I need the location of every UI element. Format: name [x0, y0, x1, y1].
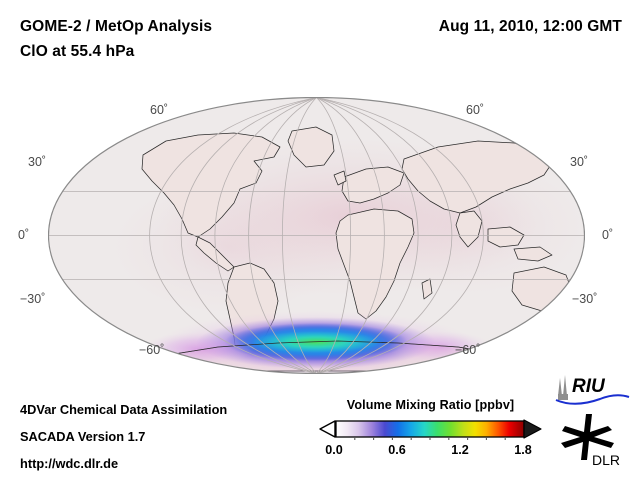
footer-line-1: 4DVar Chemical Data Assimilation — [20, 402, 227, 417]
lat-label-left-m60: −60˚ — [139, 343, 164, 357]
lat-label-right-0: 0˚ — [602, 228, 613, 242]
colorbar-tick-3: 1.8 — [514, 443, 532, 457]
colorbar-tick-2: 1.2 — [451, 443, 469, 457]
colorbar-tick-labels: 0.0 0.6 1.2 1.8 — [318, 443, 543, 461]
colorbar-graphic — [318, 418, 543, 440]
footer-line-3[interactable]: http://wdc.dlr.de — [20, 456, 118, 471]
lat-label-left-0: 0˚ — [18, 228, 29, 242]
dlr-logo: DLR — [556, 412, 632, 468]
page-title: GOME-2 / MetOp Analysis — [20, 18, 212, 36]
page-subtitle: ClO at 55.4 hPa — [20, 43, 134, 61]
riu-tower-icon — [558, 375, 568, 400]
lat-label-left-60: 60˚ — [150, 103, 168, 117]
colorbar-gradient — [336, 421, 524, 437]
colorbar-tick-0: 0.0 — [325, 443, 343, 457]
riu-logo: RIU — [552, 374, 632, 408]
colorbar-title: Volume Mixing Ratio [ppbv] — [318, 398, 543, 412]
footer-line-2: SACADA Version 1.7 — [20, 429, 145, 444]
lat-label-right-30: 30˚ — [570, 155, 588, 169]
timestamp-label: Aug 11, 2010, 12:00 GMT — [439, 18, 622, 36]
world-map — [48, 97, 585, 374]
lat-label-right-60: 60˚ — [466, 103, 484, 117]
lat-label-left-30: 30˚ — [28, 155, 46, 169]
map-canvas — [48, 97, 585, 374]
colorbar-right-cap-icon — [524, 420, 541, 438]
riu-wordmark: RIU — [572, 376, 606, 397]
lat-label-right-m60: −60˚ — [455, 343, 480, 357]
dlr-wordmark: DLR — [592, 452, 620, 468]
colorbar: Volume Mixing Ratio [ppbv] 0.0 0.6 1.2 1… — [318, 398, 543, 461]
colorbar-left-cap-icon — [320, 421, 335, 437]
lat-label-right-m30: −30˚ — [572, 292, 597, 306]
lat-label-left-m30: −30˚ — [20, 292, 45, 306]
colorbar-tick-1: 0.6 — [388, 443, 406, 457]
